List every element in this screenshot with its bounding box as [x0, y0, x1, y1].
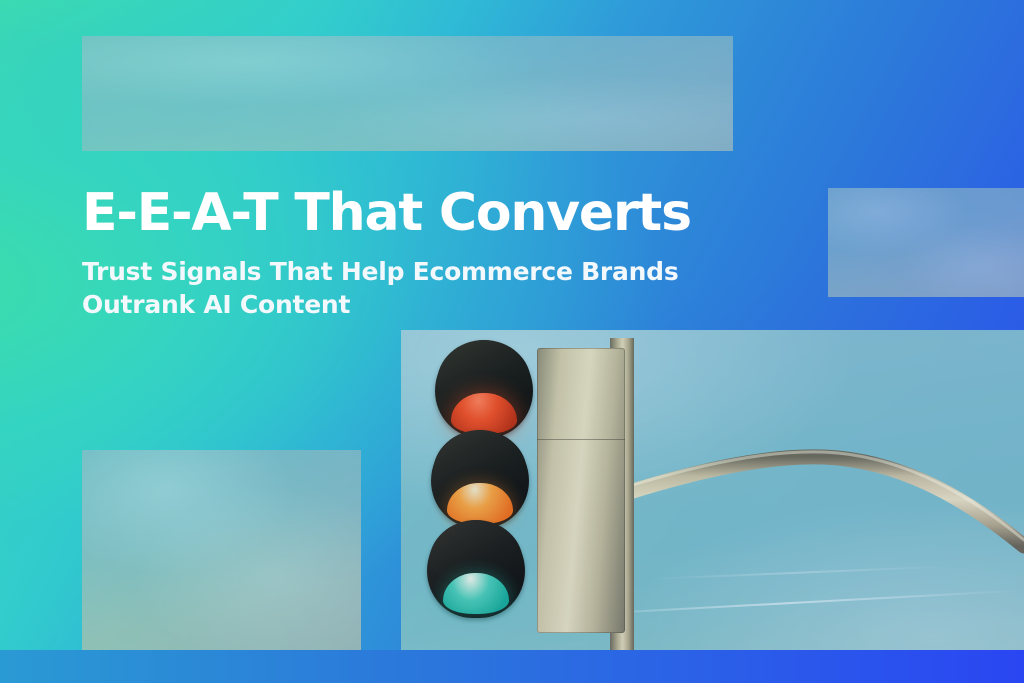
sky-texture	[82, 36, 733, 151]
green-light	[427, 520, 525, 618]
amber-light	[431, 430, 529, 528]
traffic-light-photo	[401, 330, 1024, 650]
mast-arm-icon	[623, 434, 1024, 564]
decorative-panel-bottom-left	[82, 450, 361, 663]
signal-housing	[537, 348, 625, 633]
bottom-accent-strip	[0, 650, 1024, 683]
page-title: E-E-A-T That Converts	[82, 186, 782, 241]
traffic-light-assembly	[401, 330, 1024, 650]
promo-banner: E-E-A-T That Converts Trust Signals That…	[0, 0, 1024, 683]
decorative-panel-right	[828, 188, 1024, 297]
sky-texture	[828, 188, 1024, 297]
red-light	[435, 340, 533, 438]
decorative-panel-top-left	[82, 36, 733, 151]
sky-texture	[82, 450, 361, 663]
text-block: E-E-A-T That Converts Trust Signals That…	[82, 186, 782, 322]
page-subtitle: Trust Signals That Help Ecommerce Brands…	[82, 255, 742, 322]
